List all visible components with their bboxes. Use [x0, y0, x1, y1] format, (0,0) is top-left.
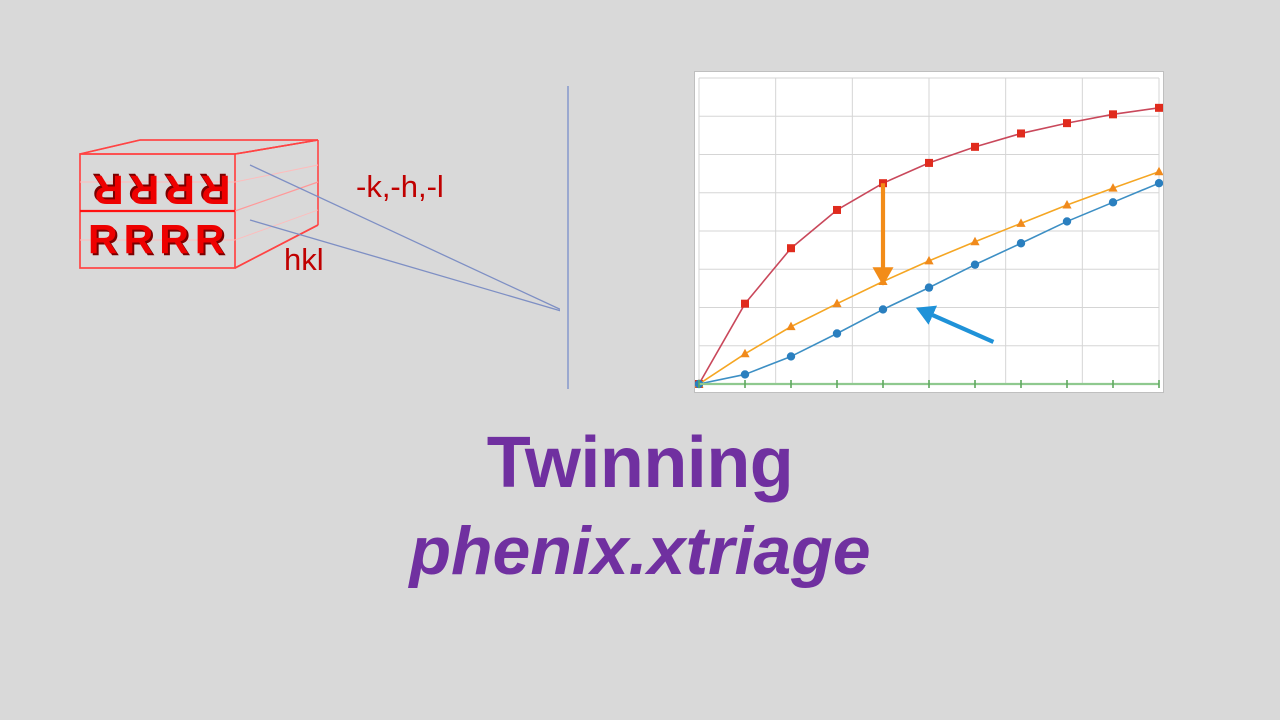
data-point-circle	[1109, 198, 1117, 206]
cumulative-intensity-chart	[694, 71, 1164, 393]
data-point-square	[971, 143, 979, 151]
data-point-square	[1155, 104, 1163, 112]
data-point-square	[1063, 119, 1071, 127]
data-point-triangle	[1154, 167, 1163, 176]
chart-gridlines	[699, 78, 1159, 384]
data-point-circle	[1063, 217, 1071, 225]
data-point-circle	[1017, 239, 1025, 247]
data-point-circle	[971, 260, 979, 268]
data-point-triangle	[740, 349, 749, 358]
data-point-square	[1109, 110, 1117, 118]
data-point-square	[787, 244, 795, 252]
data-point-square	[741, 300, 749, 308]
twin-domain-bottom-letters: RRRR	[88, 219, 230, 260]
data-point-square	[925, 159, 933, 167]
slide-canvas: RRRR RRRR -k,-h,-l hkl Twinning phenix.x…	[0, 0, 1280, 720]
blue-pointer-arrow	[920, 309, 994, 342]
data-point-square	[1017, 129, 1025, 137]
data-point-circle	[1155, 179, 1163, 187]
data-point-circle	[833, 329, 841, 337]
data-point-square	[833, 206, 841, 214]
data-point-circle	[741, 370, 749, 378]
reflection-label-minus-k-minus-h-minus-l: -k,-h,-l	[356, 171, 444, 202]
data-point-circle	[925, 283, 933, 291]
chart-series-baseline	[699, 380, 1159, 388]
twin-domain-top-letters: RRRR	[88, 169, 230, 210]
data-point-circle	[879, 305, 887, 313]
page-subtitle: phenix.xtriage	[0, 513, 1280, 589]
detector-line	[567, 86, 569, 389]
reflection-label-hkl: hkl	[284, 244, 324, 275]
title-block: Twinning phenix.xtriage	[0, 425, 1280, 589]
chart-svg	[695, 72, 1163, 392]
crystal-twin-diagram: RRRR RRRR -k,-h,-l hkl	[60, 125, 560, 355]
data-point-circle	[787, 352, 795, 360]
page-title: Twinning	[0, 425, 1280, 503]
